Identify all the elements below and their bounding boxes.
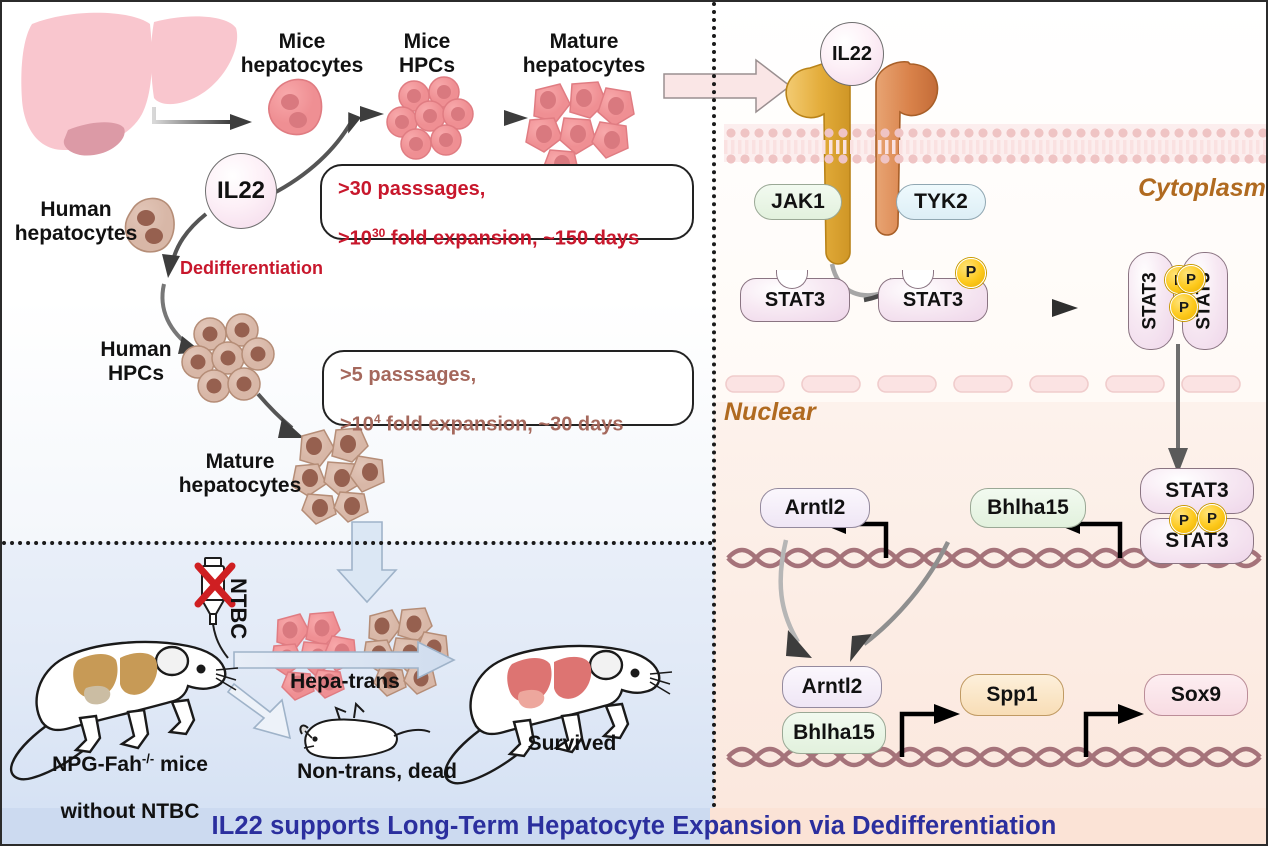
label-mature-hepatocytes-human: Mature hepatocytes	[174, 450, 306, 497]
callout-mouse-line1: >30 passsages,	[338, 178, 485, 200]
label-mature-hepatocytes-mouse: Mature hepatocytes	[510, 30, 658, 77]
phospho-monomer-label: P	[966, 264, 977, 282]
phospho-dimer-nuc-1-label: P	[1179, 512, 1189, 529]
panel-vertical-divider	[712, 2, 716, 808]
label-non-trans-dead: Non-trans, dead	[282, 760, 472, 784]
phospho-badge-monomer: P	[956, 258, 986, 288]
npg-fah-caption-post: mice	[154, 753, 208, 776]
panel-horizontal-divider	[2, 541, 713, 545]
npg-fah-caption: NPG-Fah	[52, 753, 142, 776]
stat3-dimer-cyto-left[interactable]: STAT3	[1128, 252, 1174, 350]
jak1-pill[interactable]: JAK1	[754, 184, 842, 220]
stat3-phospho-label: STAT3	[903, 289, 963, 312]
page-title: IL22 supports Long-Term Hepatocyte Expan…	[2, 808, 1266, 844]
callout-human-line1: >5 passsages,	[340, 364, 476, 386]
callout-mouse-line2-pre: >10	[338, 228, 372, 250]
callout-mouse-line2-post: fold expansion, ~150 days	[385, 228, 639, 250]
membrane-upper-heads	[724, 126, 1268, 140]
graphical-abstract: Mice hepatocytes Mice HPCs Mature hepato…	[0, 0, 1268, 846]
sox9-label: Sox9	[1171, 683, 1221, 707]
label-nuclear: Nuclear	[724, 398, 864, 426]
arntl2-lower-pill[interactable]: Arntl2	[782, 666, 882, 708]
callout-human-line2-pre: >10	[340, 414, 374, 436]
phospho-badge-dimer-cyto-2: P	[1177, 265, 1205, 293]
callout-mouse-line2-sup: 30	[372, 226, 385, 240]
phospho-dimer-nuc-2-label: P	[1207, 510, 1217, 527]
label-dedifferentiation: Dedifferentiation	[180, 258, 410, 278]
label-mice-hepatocytes: Mice hepatocytes	[232, 30, 372, 77]
membrane-lower-heads	[724, 152, 1268, 166]
bhlha15-lower-label: Bhlha15	[793, 721, 875, 745]
il22-ligand-badge[interactable]: IL22	[205, 153, 277, 229]
phospho-dimer-cyto-2-label: P	[1186, 271, 1196, 288]
label-hepa-trans: Hepa-trans	[250, 670, 440, 694]
sox9-pill[interactable]: Sox9	[1144, 674, 1248, 716]
bhlha15-upper-label: Bhlha15	[987, 496, 1069, 520]
jak1-label: JAK1	[771, 190, 825, 214]
callout-human-expansion: >5 passsages, >104 fold expansion, ~30 d…	[322, 350, 694, 426]
il22-right-label: IL22	[832, 43, 872, 66]
phospho-badge-dimer-nuc-1: P	[1170, 506, 1198, 534]
tyk2-pill[interactable]: TYK2	[896, 184, 986, 220]
stat3-dimer-nuc-top[interactable]: STAT3	[1140, 468, 1254, 514]
il22-left-label: IL22	[217, 177, 265, 205]
label-ntbc: NTBC	[218, 578, 250, 639]
il22-ligand-receptor-badge[interactable]: IL22	[820, 22, 884, 86]
phospho-dimer-cyto-3-label: P	[1179, 299, 1189, 316]
stat3-dimer-nuc-top-label: STAT3	[1165, 479, 1228, 503]
label-mice-hpcs: Mice HPCs	[377, 30, 477, 77]
callout-human-line2-sup: 4	[374, 412, 381, 426]
phospho-badge-dimer-cyto-3: P	[1170, 293, 1198, 321]
callout-mouse-expansion: >30 passsages, >1030 fold expansion, ~15…	[320, 164, 694, 240]
label-human-hpcs: Human HPCs	[84, 338, 188, 385]
arntl2-lower-label: Arntl2	[802, 675, 863, 699]
spp1-label: Spp1	[986, 683, 1037, 707]
npg-fah-caption-sup: -/-	[142, 751, 154, 766]
spp1-pill[interactable]: Spp1	[960, 674, 1064, 716]
bhlha15-lower-pill[interactable]: Bhlha15	[782, 712, 886, 754]
stat3-monomer-label: STAT3	[765, 289, 825, 312]
label-cytoplasm: Cytoplasm	[1132, 174, 1268, 202]
phospho-badge-dimer-nuc-2: P	[1198, 504, 1226, 532]
stat3-dimer-nuc-bottom-label: STAT3	[1165, 529, 1228, 553]
arntl2-upper-pill[interactable]: Arntl2	[760, 488, 870, 528]
label-survived: Survived	[502, 732, 642, 756]
bhlha15-upper-pill[interactable]: Bhlha15	[970, 488, 1086, 528]
arntl2-upper-label: Arntl2	[785, 496, 846, 520]
callout-human-line2-post: fold expansion, ~30 days	[381, 414, 624, 436]
stat3-dimer-cyto-left-label: STAT3	[1140, 272, 1162, 329]
tyk2-label: TYK2	[914, 190, 968, 214]
label-human-hepatocytes: Human hepatocytes	[12, 198, 140, 245]
